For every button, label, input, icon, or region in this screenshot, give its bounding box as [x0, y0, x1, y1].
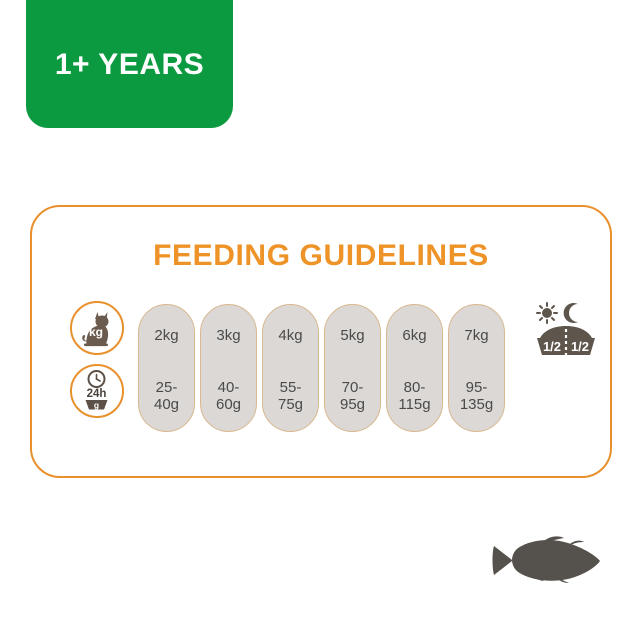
capsule-amount: 80- 115g: [398, 379, 430, 414]
age-badge: 1+ YEARS: [26, 0, 233, 128]
fish-icon: [490, 536, 602, 584]
capsule-weight: 7kg: [464, 327, 488, 345]
morning-fraction: 1/2: [543, 339, 561, 354]
capsule-amount: 95- 135g: [460, 379, 493, 414]
clock-bowl-icon: 24h g: [70, 364, 124, 418]
svg-text:kg: kg: [89, 325, 103, 339]
capsule-amount: 40- 60g: [216, 379, 241, 414]
capsule-weight: 5kg: [340, 327, 364, 345]
table-row: 5kg 70- 95g: [324, 304, 381, 432]
capsule-weight: 6kg: [402, 327, 426, 345]
cat-weight-icon: kg: [70, 301, 124, 355]
table-row: 3kg 40- 60g: [200, 304, 257, 432]
page-title: FEEDING GUIDELINES: [32, 239, 610, 273]
evening-fraction: 1/2: [571, 339, 589, 354]
age-badge-label: 1+ YEARS: [55, 48, 204, 82]
capsule-amount: 55- 75g: [278, 379, 303, 414]
table-row: 2kg 25- 40g: [138, 304, 195, 432]
table-row: 6kg 80- 115g: [386, 304, 443, 432]
icon-column: kg 24h g: [70, 301, 128, 418]
capsule-weight: 4kg: [278, 327, 302, 345]
capsule-list: 2kg 25- 40g 3kg 40- 60g 4kg 55- 75g 5kg …: [138, 304, 505, 432]
svg-text:24h: 24h: [87, 388, 107, 400]
capsule-amount: 70- 95g: [340, 379, 365, 414]
feeding-table: kg 24h g: [70, 301, 592, 451]
svg-text:g: g: [94, 400, 99, 410]
feeding-guidelines-panel: FEEDING GUIDELINES: [30, 205, 612, 478]
capsule-weight: 2kg: [154, 327, 178, 345]
capsule-amount: 25- 40g: [154, 379, 179, 414]
table-row: 7kg 95- 135g: [448, 304, 505, 432]
sun-moon-bowl-icon: 1/2 1/2: [525, 301, 607, 361]
table-row: 4kg 55- 75g: [262, 304, 319, 432]
capsule-weight: 3kg: [216, 327, 240, 345]
